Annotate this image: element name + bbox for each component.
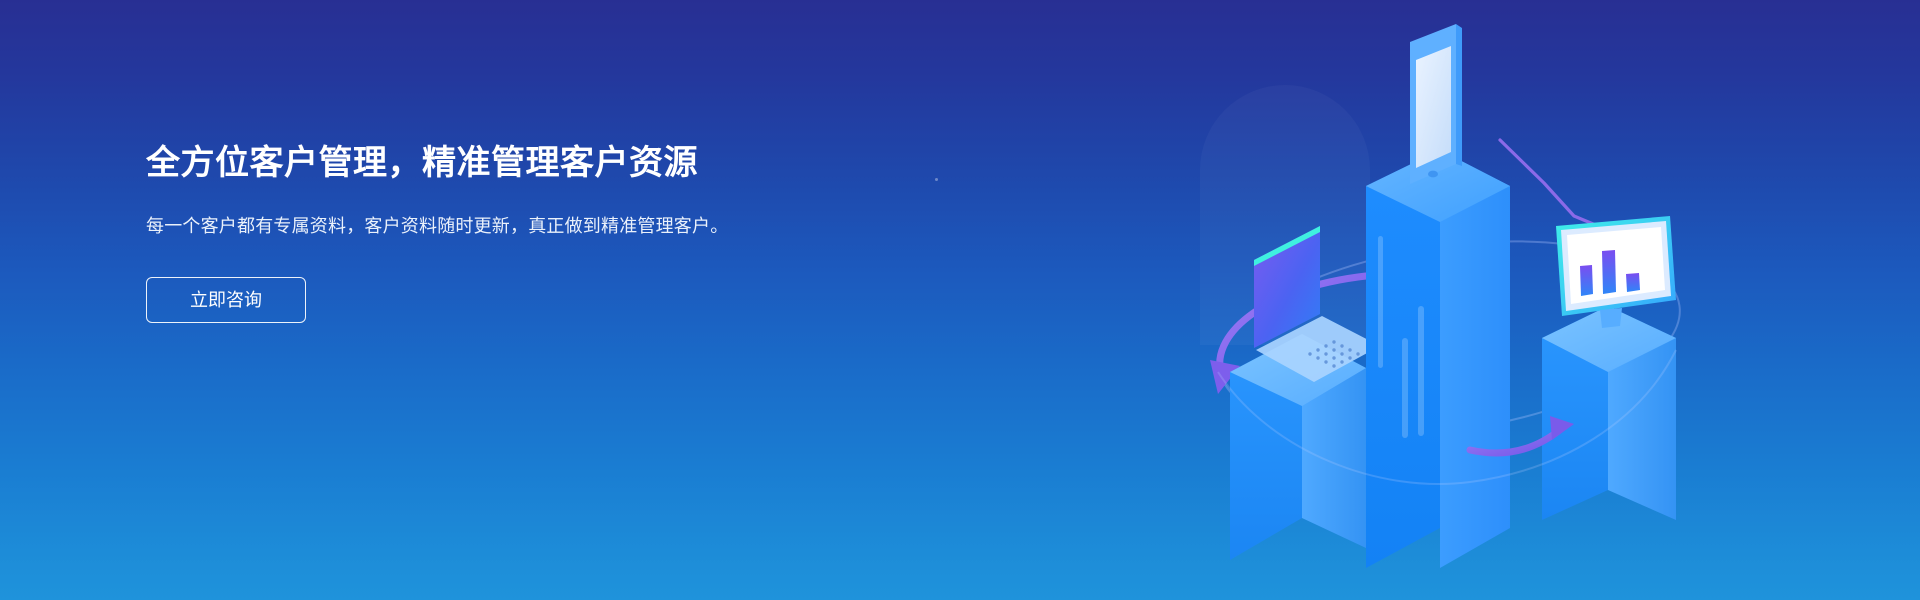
tablet [1410, 24, 1462, 184]
decorative-dot [935, 178, 938, 181]
laptop [1254, 226, 1380, 382]
hero-illustration [1170, 20, 1730, 580]
hero-subtitle: 每一个客户都有专属资料，客户资料随时更新，真正做到精准管理客户。 [146, 212, 731, 241]
trend-polyline [1500, 140, 1622, 236]
center-pillar [1366, 150, 1510, 568]
consult-now-button[interactable]: 立即咨询 [146, 277, 306, 323]
right-pillar [1542, 306, 1676, 520]
monitor [1556, 216, 1676, 328]
page-title: 全方位客户管理，精准管理客户资源 [146, 140, 766, 186]
hero-banner: 全方位客户管理，精准管理客户资源 每一个客户都有专属资料，客户资料随时更新，真正… [0, 0, 1920, 600]
hero-copy: 全方位客户管理，精准管理客户资源 每一个客户都有专属资料，客户资料随时更新，真正… [146, 140, 766, 323]
